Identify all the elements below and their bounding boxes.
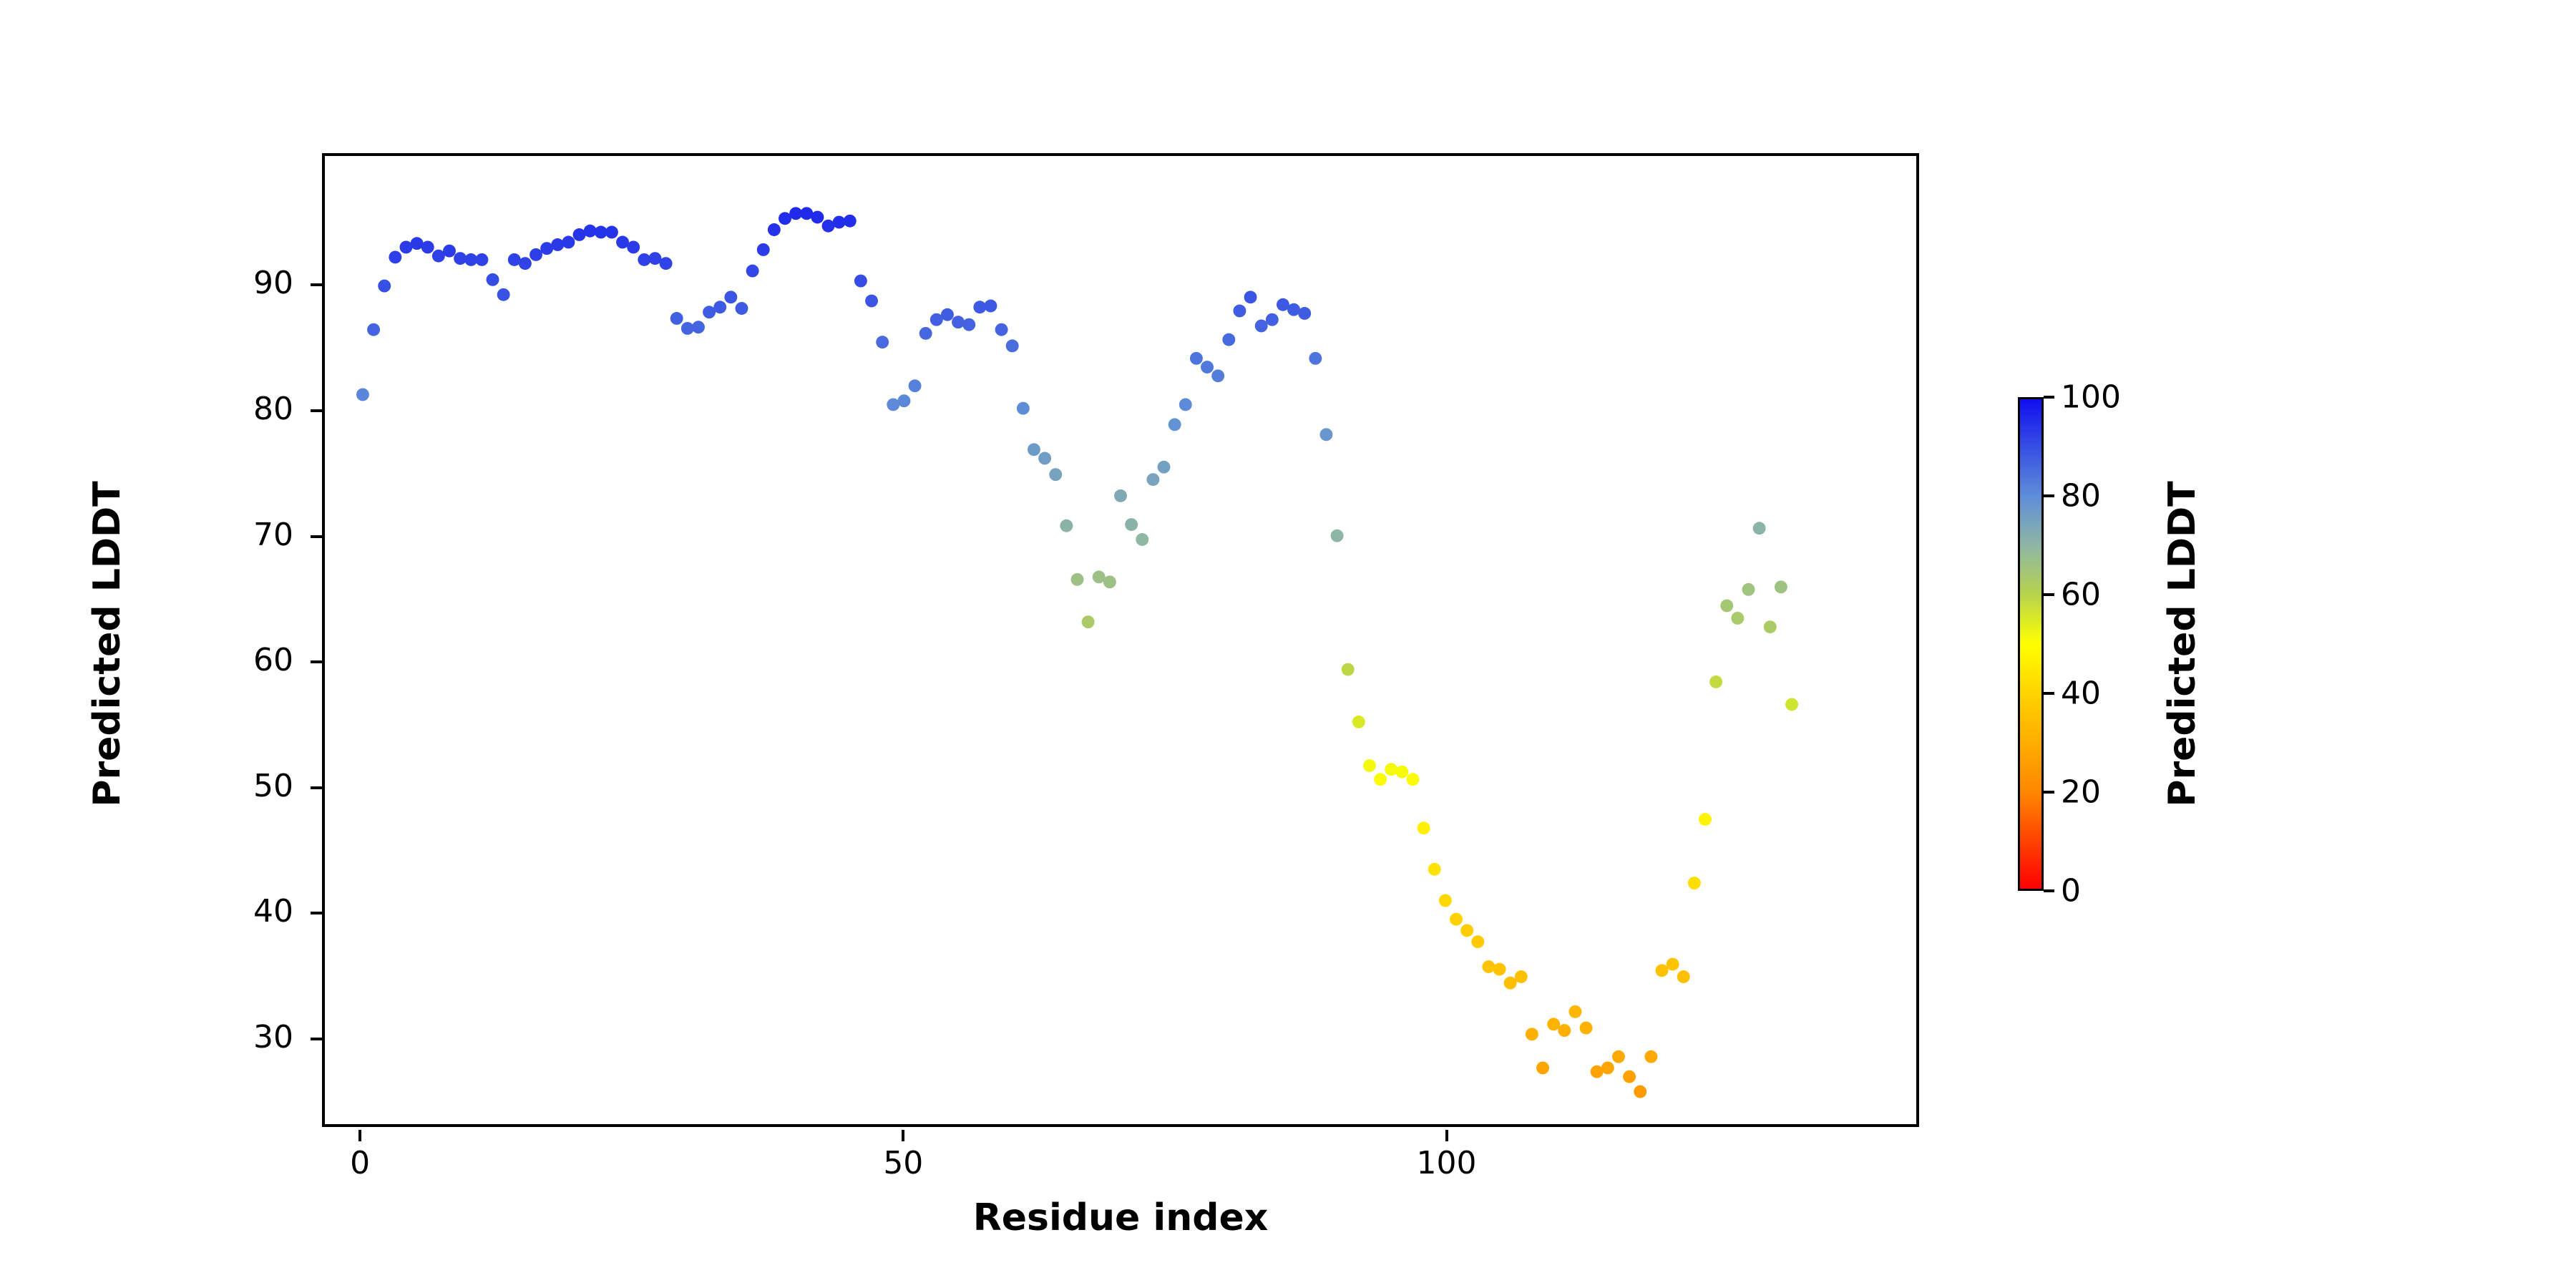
scatter-point[interactable] [1201,361,1214,374]
scatter-point[interactable] [1319,428,1332,441]
colorbar-tick-label: 60 [2061,577,2101,613]
scatter-point[interactable] [1568,1005,1581,1018]
scatter-point[interactable] [1482,960,1495,973]
scatter-point[interactable] [1114,489,1127,502]
y-axis-tick-mark [311,283,322,286]
scatter-point[interactable] [1526,1028,1538,1040]
scatter-point[interactable] [1775,580,1787,593]
scatter-point[interactable] [768,223,781,236]
colorbar-tick-label: 80 [2061,478,2101,514]
scatter-point[interactable] [1146,473,1159,486]
scatter-point[interactable] [854,275,867,288]
scatter-point[interactable] [844,215,857,228]
scatter-point[interactable] [660,257,673,270]
scatter-point[interactable] [1309,352,1322,365]
scatter-point[interactable] [1125,518,1138,531]
y-axis-tick-label: 40 [179,893,293,930]
scatter-point[interactable] [1136,533,1148,546]
scatter-point[interactable] [1363,759,1376,772]
scatter-point[interactable] [1374,773,1387,786]
x-axis-tick-label: 50 [883,1145,923,1181]
scatter-point[interactable] [984,300,997,313]
scatter-point[interactable] [919,327,932,340]
x-axis-tick-mark [902,1130,904,1141]
y-axis-tick-mark [311,786,322,789]
colorbar-tick-label: 40 [2061,675,2101,712]
scatter-point[interactable] [1580,1022,1593,1035]
scatter-point[interactable] [627,240,640,253]
scatter-point[interactable] [1612,1050,1625,1063]
colorbar[interactable]: 100806040200 [2018,397,2044,891]
scatter-point[interactable] [1623,1070,1636,1083]
scatter-point[interactable] [1471,935,1484,948]
scatter-point[interactable] [1428,863,1441,876]
scatter-point[interactable] [475,253,488,266]
scatter-point[interactable] [1298,307,1311,320]
scatter-point[interactable] [1450,913,1463,926]
y-axis-tick-label: 90 [179,265,293,301]
scatter-point[interactable] [865,295,878,308]
scatter-point[interactable] [973,301,986,313]
y-axis-tick-label: 50 [179,768,293,804]
y-axis-tick-label: 30 [179,1019,293,1055]
scatter-point[interactable] [995,323,1008,336]
plot-area[interactable] [322,153,1919,1127]
scatter-point[interactable] [1158,461,1171,474]
scatter-point[interactable] [1082,615,1095,628]
scatter-point[interactable] [1222,333,1235,346]
scatter-point[interactable] [1331,530,1344,542]
y-axis-tick-mark [311,409,322,412]
scatter-point[interactable] [876,336,889,348]
scatter-point[interactable] [1017,402,1030,415]
scatter-point[interactable] [584,225,597,238]
scatter-point[interactable] [1439,894,1452,907]
scatter-point[interactable] [378,280,391,293]
scatter-point[interactable] [811,211,824,224]
scatter-point[interactable] [356,389,369,401]
scatter-point[interactable] [1418,821,1430,834]
scatter-point[interactable] [1028,443,1040,456]
scatter-point[interactable] [1049,468,1062,481]
scatter-point[interactable] [1233,305,1246,318]
colorbar-tick-mark [2044,494,2054,497]
x-axis-tick-label: 100 [1417,1145,1477,1181]
colorbar-gradient [2018,397,2044,891]
scatter-point[interactable] [1558,1024,1571,1037]
scatter-point[interactable] [692,321,705,333]
y-axis-tick-label: 80 [179,391,293,427]
scatter-point[interactable] [1644,1050,1657,1063]
scatter-point[interactable] [1785,698,1798,711]
scatter-point[interactable] [736,302,748,315]
scatter-point[interactable] [454,252,467,265]
colorbar-tick-mark [2044,692,2054,695]
scatter-point[interactable] [1764,620,1777,633]
scatter-point[interactable] [1667,958,1679,971]
y-axis-tick-label: 70 [179,517,293,553]
colorbar-tick-mark [2044,593,2054,596]
scatter-point[interactable] [421,240,434,253]
scatter-point[interactable] [487,273,499,286]
x-axis-tick-mark [1445,1130,1448,1141]
colorbar-tick-label: 100 [2061,379,2121,416]
y-axis-tick-mark [311,1038,322,1040]
scatter-plot-svg[interactable] [325,156,1916,1124]
scatter-point[interactable] [941,308,954,321]
y-axis-tick-label: 60 [179,642,293,678]
scatter-point[interactable] [551,238,564,251]
y-axis-tick-mark [311,535,322,538]
scatter-point[interactable] [757,243,770,256]
colorbar-label: Predicted LDDT [2161,481,2204,806]
scatter-point[interactable] [909,379,922,392]
scatter-point[interactable] [1536,1061,1549,1074]
scatter-point[interactable] [1395,766,1408,779]
scatter-point[interactable] [1460,924,1473,937]
scatter-point[interactable] [1677,970,1690,983]
scatter-point[interactable] [1699,813,1712,826]
scatter-point[interactable] [1493,963,1506,976]
scatter-point[interactable] [1655,964,1668,977]
scatter-point[interactable] [443,245,456,258]
scatter-point[interactable] [562,236,575,249]
colorbar-tick-mark [2044,889,2054,892]
scatter-point[interactable] [1244,291,1257,303]
scatter-point[interactable] [897,394,910,407]
scatter-point[interactable] [952,316,965,328]
scatter-point[interactable] [1504,977,1517,990]
scatter-point[interactable] [1255,319,1268,332]
scatter-point[interactable] [1385,763,1397,776]
scatter-point[interactable] [1515,970,1528,983]
scatter-point[interactable] [1742,583,1755,596]
scatter-point[interactable] [1720,600,1733,613]
scatter-point[interactable] [389,250,401,263]
scatter-point[interactable] [605,226,618,239]
x-axis-tick-label: 0 [350,1145,370,1181]
y-axis-label: Predicted LDDT [86,481,129,806]
scatter-point[interactable] [530,248,542,261]
scatter-point[interactable] [519,257,532,270]
scatter-point[interactable] [497,288,510,301]
scatter-point[interactable] [1190,352,1203,365]
scatter-point[interactable] [1407,773,1420,786]
y-axis-tick-mark [311,912,322,914]
scatter-point[interactable] [1352,716,1365,728]
scatter-point[interactable] [1731,612,1744,625]
scatter-point[interactable] [1266,313,1279,326]
scatter-point[interactable] [1060,519,1073,532]
x-axis-label: Residue index [973,1196,1269,1239]
scatter-point[interactable] [1688,877,1701,889]
figure-canvas: Predicted LDDT 90807060504030 050100 Res… [0,0,2576,1288]
scatter-points[interactable] [356,207,1798,1098]
scatter-point[interactable] [681,322,694,335]
scatter-point[interactable] [1342,663,1355,676]
colorbar-tick-mark [2044,396,2054,399]
scatter-point[interactable] [962,318,975,331]
scatter-point[interactable] [713,301,726,313]
y-axis-tick-mark [311,660,322,663]
scatter-point[interactable] [1169,418,1181,431]
scatter-point[interactable] [638,253,650,266]
scatter-point[interactable] [1006,339,1019,352]
scatter-point[interactable] [1103,575,1116,588]
scatter-point[interactable] [1753,522,1766,535]
colorbar-tick-label: 0 [2061,873,2081,909]
scatter-point[interactable] [1071,573,1084,586]
scatter-point[interactable] [670,312,683,325]
scatter-point[interactable] [1547,1018,1560,1030]
x-axis-tick-mark [358,1130,361,1141]
colorbar-tick-label: 20 [2061,774,2101,811]
scatter-point[interactable] [367,323,380,336]
scatter-point[interactable] [1179,398,1192,411]
scatter-point[interactable] [746,265,759,278]
scatter-point[interactable] [1601,1061,1614,1074]
scatter-point[interactable] [1634,1085,1646,1098]
scatter-point[interactable] [724,291,737,303]
scatter-point[interactable] [833,216,846,229]
scatter-point[interactable] [1211,369,1224,382]
scatter-point[interactable] [1038,452,1051,465]
scatter-point[interactable] [1709,675,1722,688]
colorbar-tick-mark [2044,791,2054,794]
